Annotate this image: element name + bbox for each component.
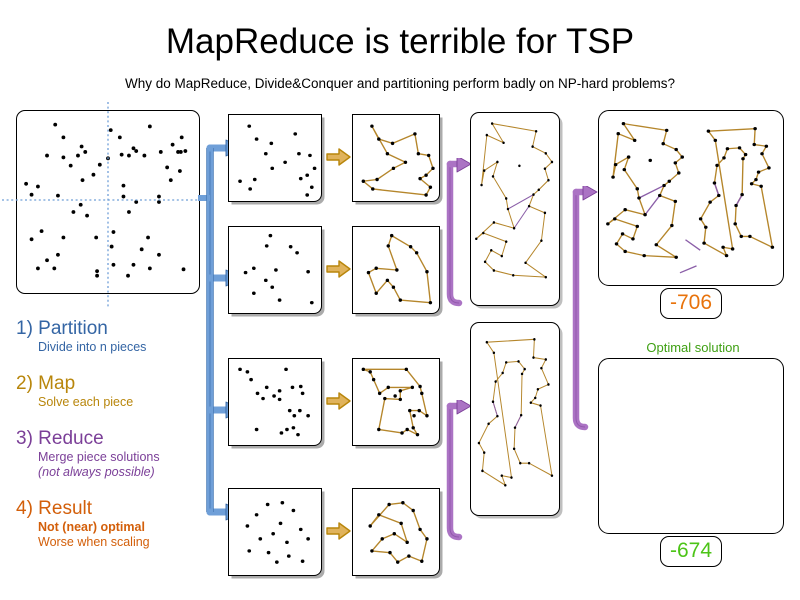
mapreduce-result-panel [598,110,784,286]
merged-top-svg [471,113,559,305]
input-point-cloud-panel [16,110,200,294]
piece-1-tour-svg [353,115,439,201]
mapreduce-result-svg [599,111,783,285]
piece-panel-2 [228,226,322,314]
legend-step-map: 2) Map Solve each piece [16,373,221,410]
merged-tour-panel-bottom [470,322,560,516]
legend-step-3-line-2: (not always possible) [16,465,221,480]
page-title: MapReduce is terrible for TSP [0,22,800,62]
legend-steps: 1) Partition Divide into n pieces 2) Map… [16,318,221,561]
legend-step-2-line-1: Solve each piece [16,395,221,410]
piece-2-scatter-svg [229,227,321,313]
legend-step-4-line-2: Worse when scaling [16,535,221,550]
piece-1-scatter-svg [229,115,321,201]
mapreduce-score-badge: -706 [660,288,722,319]
legend-step-4-line-1: Not (near) optimal [16,520,221,535]
map-arrow-2 [326,258,352,282]
piece-panel-4 [228,488,322,576]
piece-tour-panel-3 [352,358,440,446]
piece-tour-panel-2 [352,226,440,314]
optimal-solution-caption: Optimal solution [598,340,788,355]
legend-step-3-line-1: Merge piece solutions [16,450,221,465]
optimal-score-badge: -674 [660,536,722,567]
piece-4-scatter-svg [229,489,321,575]
piece-4-tour-svg [353,489,439,575]
map-arrow-3 [326,390,352,414]
result-merge-arrow [566,186,602,432]
piece-tour-panel-1 [352,114,440,202]
slide-canvas: MapReduce is terrible for TSP Why do Map… [0,0,800,600]
legend-step-2-title: 2) Map [16,373,221,395]
legend-step-partition: 1) Partition Divide into n pieces [16,318,221,355]
reduce-merge-arrow-bottom [440,400,474,542]
page-subtitle: Why do MapReduce, Divide&Conquer and par… [0,76,800,91]
piece-3-tour-svg [353,359,439,445]
merged-tour-panel-top [470,112,560,306]
legend-step-3-title: 3) Reduce [16,428,221,450]
map-arrow-1 [326,146,352,170]
piece-panel-1 [228,114,322,202]
legend-step-1-title: 1) Partition [16,318,221,340]
input-scatter-svg [17,111,199,293]
legend-step-4-title: 4) Result [16,498,221,520]
piece-tour-panel-4 [352,488,440,576]
mapreduce-score-value: -706 [670,291,712,314]
legend-step-result: 4) Result Not (near) optimal Worse when … [16,498,221,550]
piece-3-scatter-svg [229,359,321,445]
piece-2-tour-svg [353,227,439,313]
piece-panel-3 [228,358,322,446]
optimal-tour-svg [599,359,783,533]
legend-step-1-line-1: Divide into n pieces [16,340,221,355]
reduce-merge-arrow-top [440,158,474,308]
optimal-score-value: -674 [670,539,712,562]
merged-bottom-svg [471,323,559,515]
legend-step-reduce: 3) Reduce Merge piece solutions (not alw… [16,428,221,480]
optimal-solution-panel [598,358,784,534]
map-arrow-4 [326,520,352,544]
